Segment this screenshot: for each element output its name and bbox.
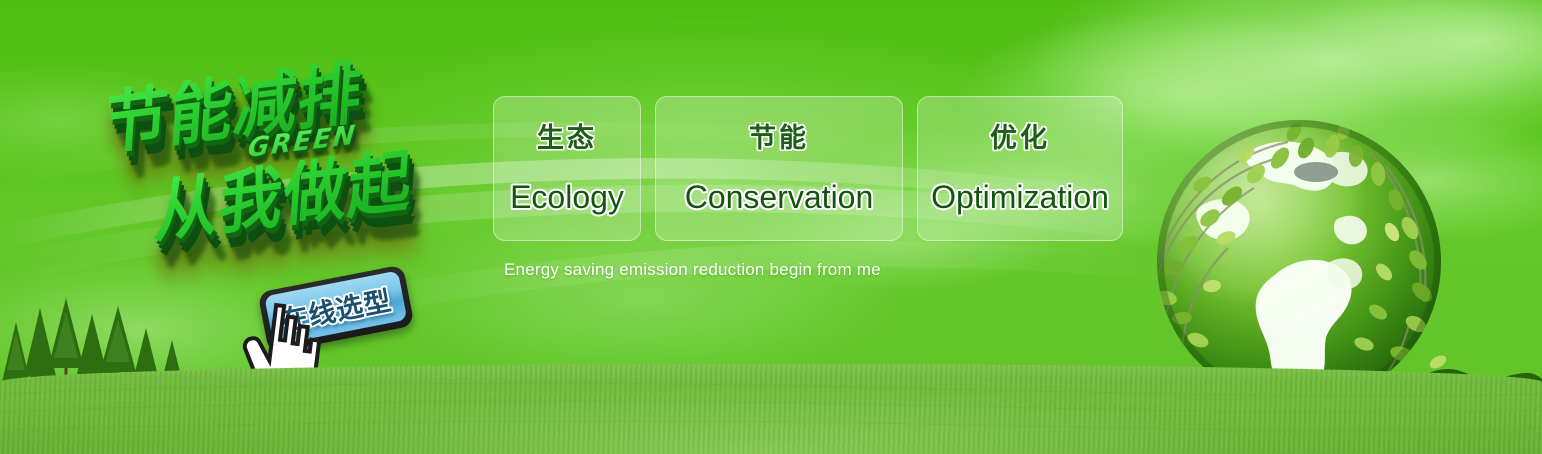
feature-card-cn-label: 生态	[537, 116, 597, 155]
feature-cards: 生态 Ecology 节能 Conservation 优化 Optimizati…	[493, 96, 1123, 241]
leafy-earth-globe-icon	[1148, 112, 1450, 414]
feature-card-optimization[interactable]: 优化 Optimization	[917, 96, 1123, 241]
tree-line-silhouette-icon	[0, 329, 1542, 399]
hero-title-line-1: 节能减排	[102, 36, 366, 167]
feature-card-ecology[interactable]: 生态 Ecology	[493, 96, 641, 241]
hero-title-line-2: 从我做起	[152, 124, 416, 255]
hero-title-artwork: 节能减排 从我做起 GREEN	[100, 35, 480, 265]
pine-trees-icon	[0, 292, 230, 412]
feature-card-cn-label: 节能	[749, 116, 809, 155]
feature-card-conservation[interactable]: 节能 Conservation	[655, 96, 903, 241]
feature-card-en-label: Conservation	[685, 179, 874, 216]
banner-tagline: Energy saving emission reduction begin f…	[504, 260, 881, 280]
grass-field-icon	[0, 364, 1542, 454]
green-energy-banner: 节能减排 从我做起 GREEN 在线选型 生态 Ecology 节	[0, 0, 1542, 454]
hero-title-accent-word: GREEN	[246, 120, 358, 164]
online-selection-button[interactable]: 在线选型	[257, 264, 414, 353]
feature-card-cn-label: 优化	[990, 116, 1050, 155]
feature-card-en-label: Optimization	[931, 179, 1109, 216]
grass-texture	[0, 364, 1542, 454]
feature-card-en-label: Ecology	[510, 179, 624, 216]
